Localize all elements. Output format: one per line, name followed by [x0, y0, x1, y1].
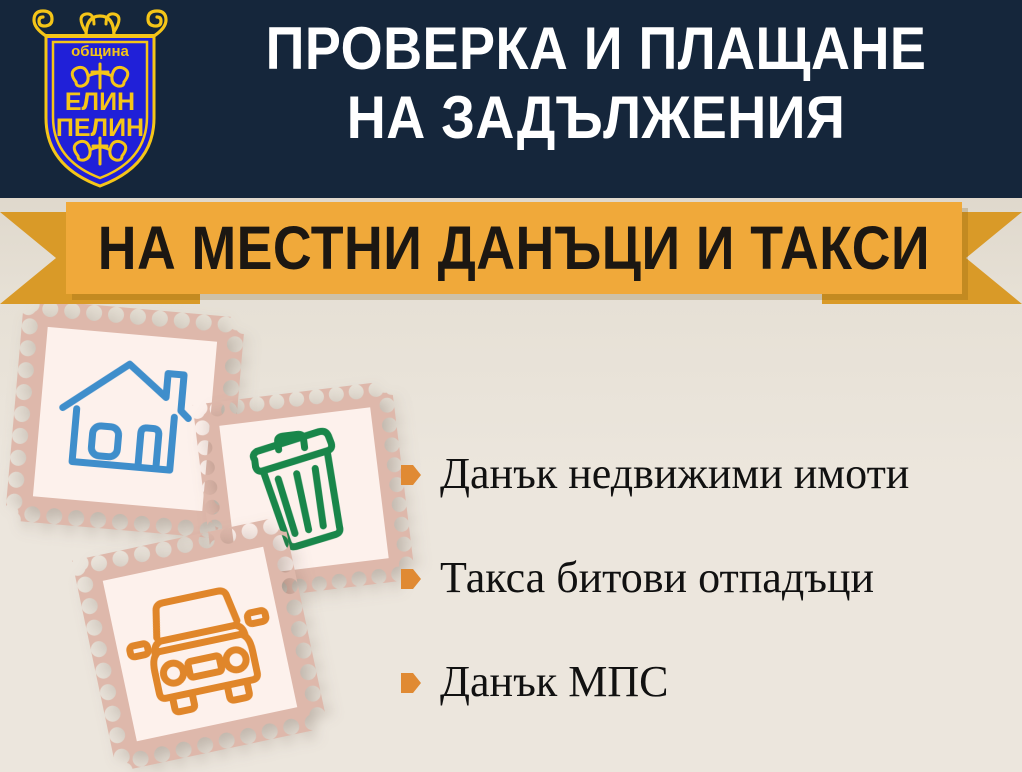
tax-type-list: Данък недвижими имоти Такса битови отпад…	[400, 422, 1010, 734]
subtitle-ribbon: НА МЕСТНИ ДАНЪЦИ И ТАКСИ	[0, 196, 1022, 308]
crest-label-top: община	[71, 43, 129, 60]
bullet-arrow-icon	[400, 566, 422, 592]
ribbon-label: НА МЕСТНИ ДАНЪЦИ И ТАКСИ	[98, 213, 930, 283]
ribbon-banner: НА МЕСТНИ ДАНЪЦИ И ТАКСИ	[66, 202, 962, 294]
bullet-arrow-icon	[400, 462, 422, 488]
crest-name-line1: ЕЛИН	[65, 88, 135, 116]
list-item-label: Такса битови отпадъци	[440, 554, 874, 602]
list-item-label: Данък МПС	[440, 658, 668, 706]
stamp-card-car	[72, 516, 328, 772]
municipality-crest-logo: община ЕЛИН ПЕЛИН	[24, 6, 176, 192]
title-line-2: НА ЗАДЪЛЖЕНИЯ	[227, 87, 965, 148]
bullet-arrow-icon	[400, 670, 422, 696]
title-line-1: ПРОВЕРКА И ПЛАЩАНЕ	[227, 18, 965, 79]
list-item[interactable]: Данък МПС	[400, 630, 1010, 734]
poster-canvas: община ЕЛИН ПЕЛИН ПРОВЕРКА И ПЛАЩАНЕ НА …	[0, 0, 1022, 772]
list-item-label: Данък недвижими имоти	[440, 450, 909, 498]
list-item[interactable]: Такса битови отпадъци	[400, 526, 1010, 630]
list-item[interactable]: Данък недвижими имоти	[400, 422, 1010, 526]
poster-title: ПРОВЕРКА И ПЛАЩАНЕ НА ЗАДЪЛЖЕНИЯ	[186, 18, 1006, 148]
